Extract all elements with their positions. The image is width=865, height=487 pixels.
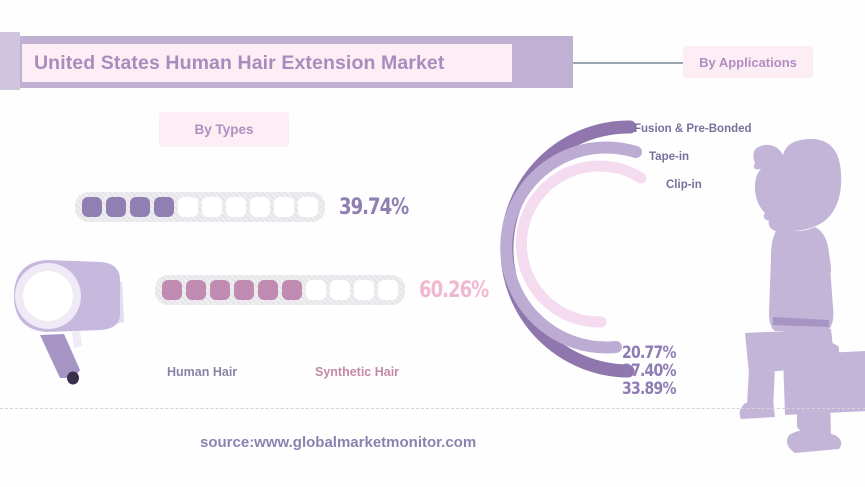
arc-legend-tape-in: Tape-in (649, 151, 689, 163)
bar-segment (106, 197, 126, 217)
chip-by-types-label: By Types (194, 122, 253, 137)
person-silhouette-icon (735, 135, 865, 485)
bar-segment (250, 197, 270, 217)
bar-value-human-hair: 39.74% (339, 195, 408, 220)
connector-line (573, 62, 683, 64)
bar-segment (82, 197, 102, 217)
bar-label-synthetic-hair: Synthetic Hair (315, 365, 399, 379)
bar-segment (154, 197, 174, 217)
bar-track-human-hair (75, 192, 325, 222)
bar-segment (258, 280, 278, 300)
page-title-text: United States Human Hair Extension Marke… (22, 52, 444, 75)
bar-segment (186, 280, 206, 300)
page-title: United States Human Hair Extension Marke… (22, 44, 512, 82)
bar-segment (274, 197, 294, 217)
bar-segment (202, 197, 222, 217)
chip-by-applications: By Applications (683, 46, 813, 78)
bar-segment (306, 280, 326, 300)
chip-by-types: By Types (159, 112, 289, 147)
chip-by-applications-label: By Applications (699, 55, 797, 70)
header-accent-strip (0, 32, 20, 90)
footer-divider (0, 408, 865, 409)
bar-segment (330, 280, 350, 300)
bar-segment (130, 197, 150, 217)
arc-clip-in (521, 166, 641, 322)
infographic-canvas: United States Human Hair Extension Marke… (0, 0, 865, 487)
person-shape (740, 139, 865, 453)
bar-segment (378, 280, 398, 300)
bar-segment (226, 197, 246, 217)
bar-segment (210, 280, 230, 300)
bar-track-synthetic-hair (155, 275, 405, 305)
arc-legend-clip-in: Clip-in (666, 179, 702, 191)
hair-dryer-shape (14, 260, 124, 385)
bar-segment (234, 280, 254, 300)
bar-segment (298, 197, 318, 217)
arc-legend-fusion-pre-bonded: Fusion & Pre-Bonded (634, 123, 752, 135)
bar-label-human-hair: Human Hair (167, 365, 237, 379)
bar-segment (282, 280, 302, 300)
bar-segment (178, 197, 198, 217)
bar-segment (354, 280, 374, 300)
arc-value-tape-in: 27.40% (622, 361, 676, 380)
arc-value-fusion-pre-bonded: 33.89% (622, 379, 676, 398)
arc-value-clip-in: 20.77% (622, 343, 676, 362)
hair-dryer-icon (2, 250, 147, 395)
source-text: source:www.globalmarketmonitor.com (200, 434, 476, 451)
bar-segment (162, 280, 182, 300)
bar-human-hair: 39.74% (75, 192, 423, 222)
